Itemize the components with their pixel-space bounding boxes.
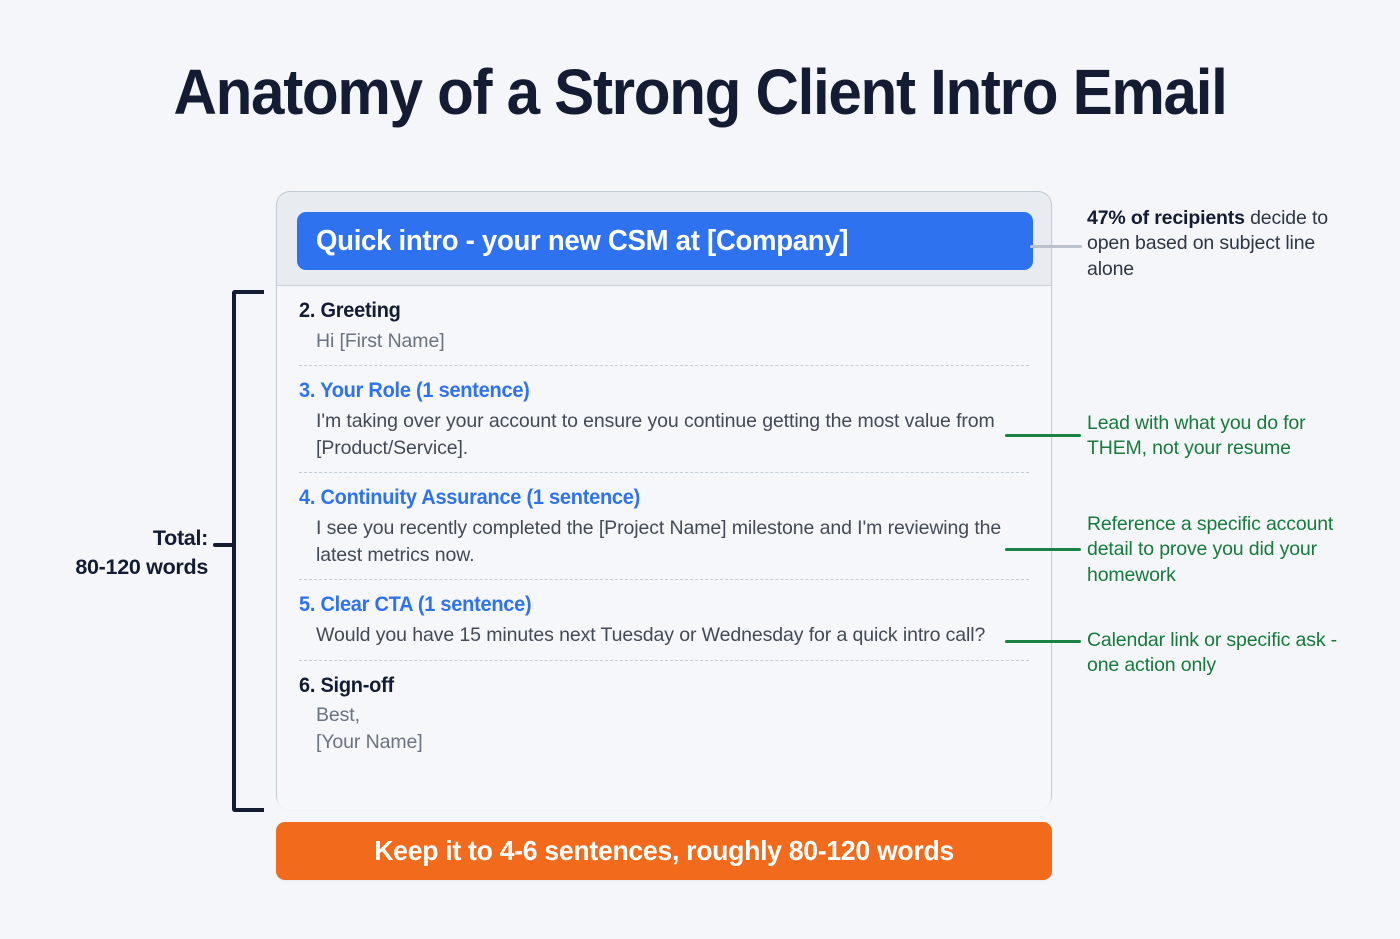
section-body: Would you have 15 minutes next Tuesday o…: [299, 622, 1006, 649]
total-words-bracket: [232, 290, 264, 812]
email-section-greeting: 2. Greeting Hi [First Name]: [299, 286, 1029, 365]
footer-callout-bar: Keep it to 4-6 sentences, roughly 80-120…: [276, 822, 1052, 880]
section-heading: 3. Your Role (1 sentence): [299, 378, 993, 405]
email-card: Quick intro - your new CSM at [Company] …: [276, 191, 1052, 809]
subject-line-text: Quick intro - your new CSM at [Company]: [316, 225, 848, 258]
annotation-bold-lead: 47% of recipients: [1087, 207, 1245, 229]
section-heading: 6. Sign-off: [299, 673, 993, 700]
section-heading: 2. Greeting: [299, 298, 993, 325]
section-heading: 4. Continuity Assurance (1 sentence): [299, 485, 993, 512]
annotation-your-role-tip: Lead with what you do for THEM, not your…: [1087, 411, 1349, 462]
total-words-label-line2: 80-120 words: [10, 553, 208, 582]
annotation-subject-line-stat: 47% of recipients decide to open based o…: [1087, 206, 1349, 282]
section-body: Best, [Your Name]: [299, 702, 1006, 755]
total-words-label: Total: 80-120 words: [10, 524, 208, 581]
section-body: Hi [First Name]: [299, 328, 1006, 355]
subject-line-bar[interactable]: Quick intro - your new CSM at [Company]: [297, 212, 1033, 270]
section-body: I see you recently completed the [Projec…: [299, 515, 1006, 568]
email-section-sign-off: 6. Sign-off Best, [Your Name]: [299, 660, 1029, 767]
page-title: Anatomy of a Strong Client Intro Email: [42, 55, 1358, 129]
section-body: I'm taking over your account to ensure y…: [299, 408, 1006, 461]
email-body: 2. Greeting Hi [First Name] 3. Your Role…: [277, 285, 1051, 810]
connector-cta: [1005, 640, 1081, 643]
email-section-clear-cta: 5. Clear CTA (1 sentence) Would you have…: [299, 579, 1029, 659]
footer-callout-text: Keep it to 4-6 sentences, roughly 80-120…: [374, 835, 954, 867]
connector-continuity: [1005, 548, 1081, 551]
annotation-continuity-tip: Reference a specific account detail to p…: [1087, 512, 1349, 588]
section-heading: 5. Clear CTA (1 sentence): [299, 592, 993, 619]
total-words-label-line1: Total:: [10, 524, 208, 553]
total-words-bracket-tick: [213, 543, 235, 547]
connector-subject-line: [1030, 245, 1082, 248]
annotation-cta-tip: Calendar link or specific ask - one acti…: [1087, 628, 1349, 679]
email-section-continuity-assurance: 4. Continuity Assurance (1 sentence) I s…: [299, 472, 1029, 579]
connector-your-role: [1005, 434, 1081, 437]
infographic-canvas: Anatomy of a Strong Client Intro Email T…: [0, 0, 1400, 939]
email-section-your-role: 3. Your Role (1 sentence) I'm taking ove…: [299, 365, 1029, 472]
